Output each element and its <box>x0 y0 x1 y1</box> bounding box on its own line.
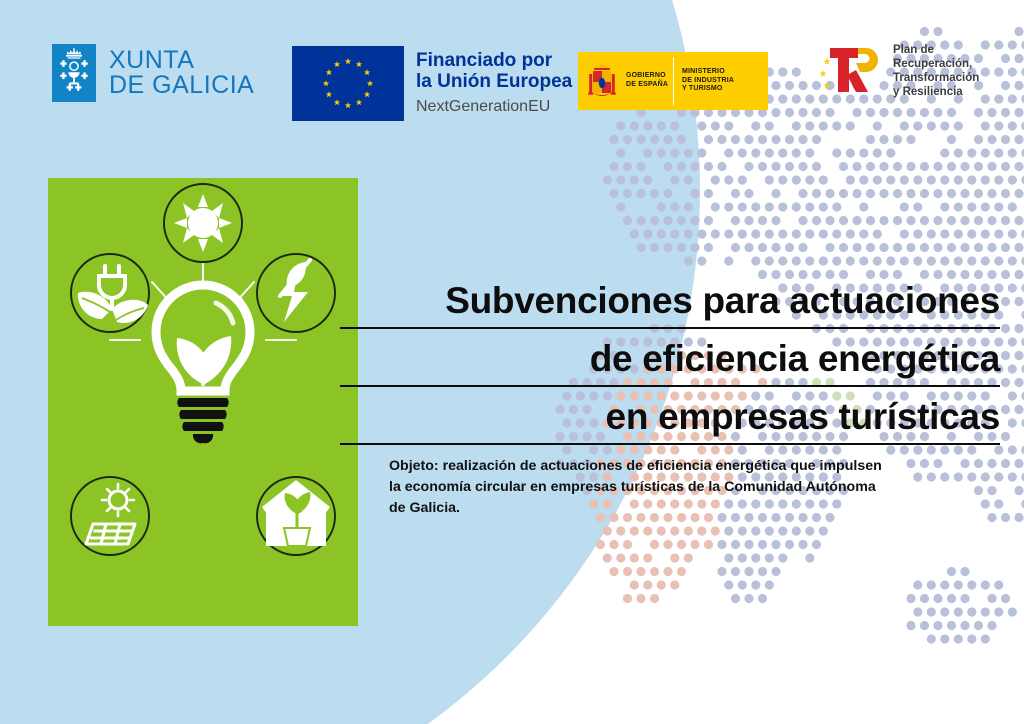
prtr-monogram-icon <box>818 40 886 102</box>
sun-icon <box>164 184 242 262</box>
objective-description: Objeto: realización de actuaciones de ef… <box>389 456 949 519</box>
ministerio-line-1: MINISTERIO <box>682 68 734 77</box>
objective-line-2: la economía circular en empresas turísti… <box>389 477 949 498</box>
title-line-1: Subvenciones para actuaciones <box>340 276 1000 329</box>
objective-line-3: de Galicia. <box>389 498 949 519</box>
prtr-line-4: y Resiliencia <box>893 85 979 99</box>
green-illustration-panel <box>48 178 358 626</box>
eu-line-2: la Unión Europea <box>416 71 572 92</box>
spain-coat-of-arms-icon <box>585 62 619 100</box>
eu-line-1: Financiado por <box>416 50 572 71</box>
eu-flag-icon <box>292 46 404 121</box>
gobierno-divider <box>673 57 674 105</box>
xunta-emblem-icon <box>52 44 96 102</box>
gobierno-line-2: DE ESPAÑA <box>626 81 668 90</box>
xunta-wordmark: XUNTA DE GALICIA <box>109 48 254 98</box>
logo-european-union: Financiado por la Unión Europea NextGene… <box>292 46 572 121</box>
logo-bar: XUNTA DE GALICIA Financiado por la Unión… <box>0 0 1024 140</box>
title-line-2: de eficiencia energética <box>340 334 1000 387</box>
xunta-line-2: DE GALICIA <box>109 73 254 98</box>
gobierno-yellow-box: GOBIERNO DE ESPAÑA MINISTERIO DE INDUSTR… <box>578 52 768 110</box>
xunta-line-1: XUNTA <box>109 48 254 73</box>
ministerio-line-2: DE INDUSTRIA <box>682 77 734 86</box>
logo-plan-recuperacion: Plan de Recuperación, Transformación y R… <box>818 40 979 102</box>
eu-line-3: NextGenerationEU <box>416 96 572 118</box>
objective-line-1: Objeto: realización de actuaciones de ef… <box>389 456 949 477</box>
eu-wordmark: Financiado por la Unión Europea NextGene… <box>416 50 572 118</box>
page-title: Subvenciones para actuaciones de eficien… <box>340 276 1000 445</box>
ministerio-wordmark: MINISTERIO DE INDUSTRIA Y TURISMO <box>682 68 734 94</box>
ministerio-line-3: Y TURISMO <box>682 85 734 94</box>
logo-gobierno-de-espana: GOBIERNO DE ESPAÑA MINISTERIO DE INDUSTR… <box>578 52 768 110</box>
prtr-line-2: Recuperación, <box>893 57 979 71</box>
eco-house-icon <box>257 477 335 555</box>
prtr-wordmark: Plan de Recuperación, Transformación y R… <box>893 43 979 99</box>
prtr-line-1: Plan de <box>893 43 979 57</box>
title-line-3: en empresas turísticas <box>340 392 1000 445</box>
poster-root: XUNTA DE GALICIA Financiado por la Unión… <box>0 0 1024 724</box>
gobierno-wordmark: GOBIERNO DE ESPAÑA <box>626 72 668 89</box>
logo-xunta-de-galicia: XUNTA DE GALICIA <box>52 44 254 102</box>
prtr-line-3: Transformación <box>893 71 979 85</box>
gobierno-line-1: GOBIERNO <box>626 72 668 81</box>
